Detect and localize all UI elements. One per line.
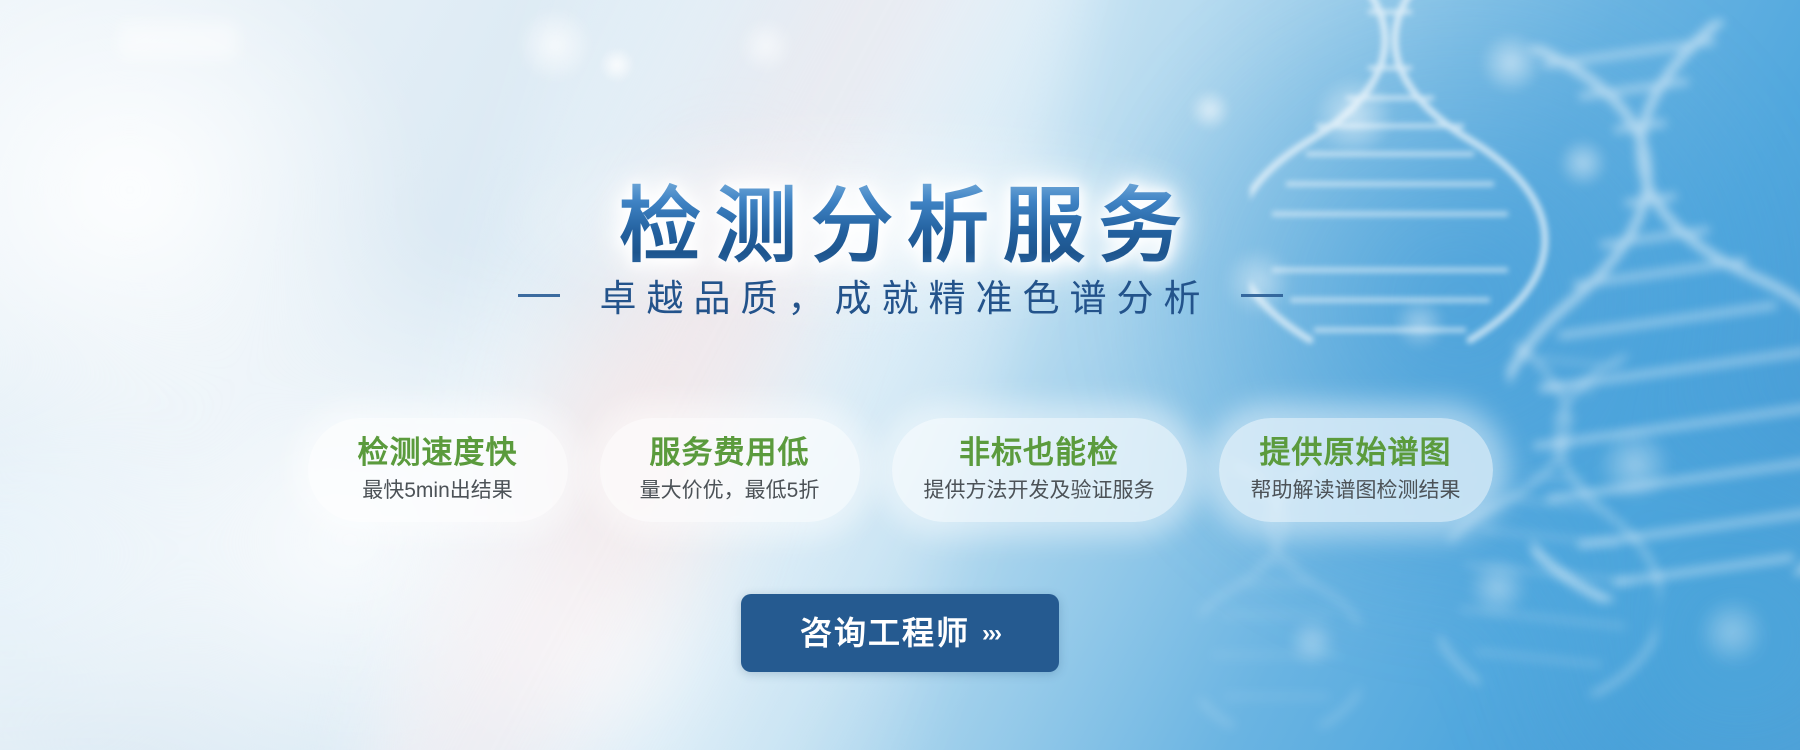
dash-right-decoration	[1241, 294, 1283, 297]
feature-pill: 服务费用低 量大价优，最低5折	[600, 418, 860, 522]
page-title: 检测分析服务	[0, 181, 1800, 273]
consult-engineer-button[interactable]: 咨询工程师 ›››	[741, 594, 1059, 672]
page-subtitle: 卓越品质，成就精准色谱分析	[590, 268, 1211, 322]
feature-pill: 非标也能检 提供方法开发及验证服务	[892, 418, 1187, 522]
feature-description: 提供方法开发及验证服务	[924, 477, 1155, 504]
feature-pill-list: 检测速度快 最快5min出结果 服务费用低 量大价优，最低5折 非标也能检 提供…	[0, 418, 1800, 522]
cta-container: 咨询工程师 ›››	[0, 594, 1800, 672]
subtitle-row: 卓越品质，成就精准色谱分析	[0, 268, 1800, 322]
feature-description: 帮助解读谱图检测结果	[1251, 477, 1461, 504]
feature-pill: 提供原始谱图 帮助解读谱图检测结果	[1219, 418, 1493, 522]
dash-left-decoration	[518, 294, 560, 297]
feature-title: 非标也能检	[924, 434, 1155, 472]
chevrons-right-icon: ›››	[982, 622, 1000, 646]
feature-title: 服务费用低	[632, 434, 828, 472]
feature-title: 提供原始谱图	[1251, 434, 1461, 472]
feature-description: 量大价优，最低5折	[632, 477, 828, 504]
feature-pill: 检测速度快 最快5min出结果	[308, 418, 568, 522]
feature-title: 检测速度快	[340, 434, 536, 472]
detection-analysis-service-banner: 检测分析服务 卓越品质，成就精准色谱分析 检测速度快 最快5min出结果 服务费…	[0, 0, 1800, 750]
feature-description: 最快5min出结果	[340, 477, 536, 504]
banner-content: 检测分析服务 卓越品质，成就精准色谱分析 检测速度快 最快5min出结果 服务费…	[0, 0, 1800, 750]
cta-label: 咨询工程师	[800, 617, 970, 649]
